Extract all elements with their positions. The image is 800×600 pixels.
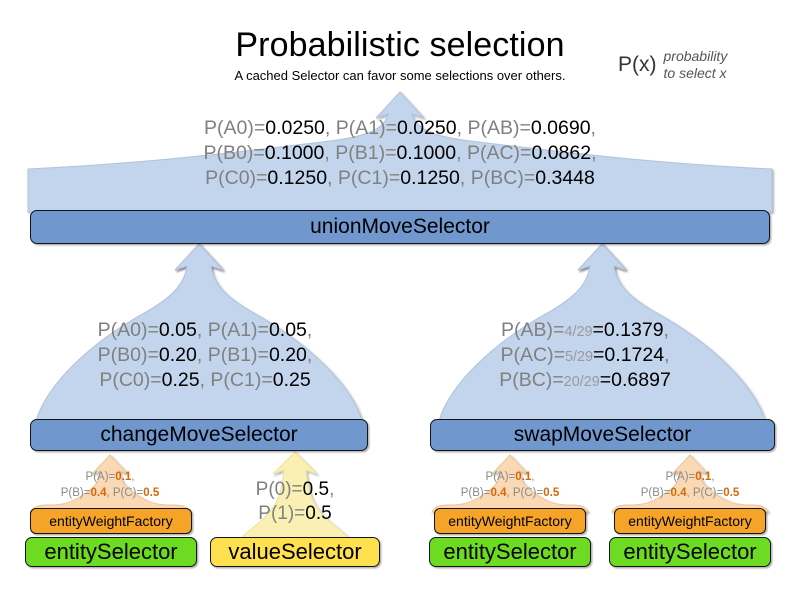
entity-selector-box-1[interactable]: entitySelector	[25, 537, 197, 567]
probability-fraction: 5/29	[565, 349, 593, 365]
change-probability-text: P(A0)=0.05, P(A1)=0.05,P(B0)=0.20, P(B1)…	[45, 318, 365, 393]
probability-label: P(C1)=	[338, 167, 400, 189]
probability-label: P(BC)=	[499, 369, 563, 391]
union-probability-text: P(A0)=0.0250, P(A1)=0.0250, P(AB)=0.0690…	[60, 116, 740, 191]
probability-value: 0.4	[670, 487, 686, 499]
probability-separator: ,	[197, 344, 208, 366]
probability-label: P(B)=	[461, 487, 491, 499]
probability-separator: ,	[325, 117, 336, 139]
probability-label: P(C)=	[693, 487, 723, 499]
probability-value: 0.5	[543, 487, 559, 499]
probability-value: 0.1000	[396, 142, 456, 164]
probability-line: P(A)=0.1,	[25, 470, 195, 486]
entity-weight-text-3: P(A)=0.1,P(B)=0.4, P(C)=0.5	[605, 470, 775, 501]
probability-label: P(A)=	[486, 471, 516, 483]
probability-value: 0.4	[490, 487, 506, 499]
probability-value: 0.1	[515, 471, 531, 483]
legend-line-2: to select x	[664, 65, 727, 81]
entity-weight-factory-box-1[interactable]: entityWeightFactory	[30, 508, 192, 534]
probability-label: P(AB)=	[467, 117, 530, 139]
probability-separator: ,	[307, 344, 312, 366]
probability-separator: ,	[664, 344, 669, 366]
probability-label: P(C1)=	[210, 369, 272, 391]
entity-weight-factory-box-3[interactable]: entityWeightFactory	[614, 508, 766, 534]
probability-separator: ,	[200, 369, 211, 391]
probability-label: P(A)=	[86, 471, 116, 483]
probability-label: P(B0)=	[98, 344, 159, 366]
entity-selector-box-3[interactable]: entitySelector	[609, 537, 771, 567]
probability-separator: ,	[591, 142, 596, 164]
legend: P(x) probability to select x	[618, 48, 793, 82]
probability-separator: ,	[711, 471, 714, 483]
probability-line: P(B0)=0.1000, P(B1)=0.1000, P(AC)=0.0862…	[60, 141, 740, 166]
probability-value: 0.3448	[535, 167, 595, 189]
probability-label: P(BC)=	[471, 167, 535, 189]
probability-label: P(A0)=	[98, 319, 159, 341]
entity-weight-text-1: P(A)=0.1,P(B)=0.4, P(C)=0.5	[25, 470, 195, 501]
probability-label: P(A1)=	[336, 117, 397, 139]
probability-separator: ,	[131, 471, 134, 483]
probability-label: P(C)=	[513, 487, 543, 499]
probability-value: 0.0250	[397, 117, 457, 139]
probability-label: P(B1)=	[208, 344, 269, 366]
probability-line: P(A)=0.1,	[605, 470, 775, 486]
probability-line: P(C0)=0.1250, P(C1)=0.1250, P(BC)=0.3448	[60, 166, 740, 191]
probability-line: P(0)=0.5,	[215, 478, 375, 502]
probability-value: 0.0250	[265, 117, 325, 139]
legend-line-1: probability	[664, 48, 728, 64]
probability-value: 0.25	[162, 369, 200, 391]
probability-label: P(1)=	[258, 503, 305, 524]
probability-label: P(A0)=	[204, 117, 265, 139]
entity-selector-box-2[interactable]: entitySelector	[429, 537, 591, 567]
probability-separator: ,	[456, 142, 467, 164]
probability-line: P(A0)=0.05, P(A1)=0.05,	[45, 318, 365, 343]
probability-label: P(B)=	[641, 487, 671, 499]
probability-separator: ,	[197, 319, 208, 341]
probability-value: =0.1724	[593, 344, 664, 366]
probability-label: P(B0)=	[203, 142, 264, 164]
probability-separator: ,	[457, 117, 468, 139]
change-move-selector-box[interactable]: changeMoveSelector	[30, 419, 368, 451]
probability-label: P(C0)=	[99, 369, 161, 391]
probability-line: P(B)=0.4, P(C)=0.5	[425, 486, 595, 502]
probability-label: P(A1)=	[208, 319, 269, 341]
probability-line: P(A0)=0.0250, P(A1)=0.0250, P(AB)=0.0690…	[60, 116, 740, 141]
probability-value: 0.1	[695, 471, 711, 483]
probability-value: 0.5	[305, 503, 331, 524]
swap-probability-text: P(AB)=4/29=0.1379,P(AC)=5/29=0.1724,P(BC…	[440, 318, 730, 393]
probability-line: P(B)=0.4, P(C)=0.5	[25, 486, 195, 502]
probability-value: 0.1	[115, 471, 131, 483]
probability-separator: ,	[324, 142, 335, 164]
union-move-selector-box[interactable]: unionMoveSelector	[30, 210, 770, 244]
probability-label: P(B1)=	[335, 142, 396, 164]
probability-value: 0.05	[159, 319, 197, 341]
probability-label: P(AC)=	[500, 344, 564, 366]
probability-line: P(B)=0.4, P(C)=0.5	[605, 486, 775, 502]
probability-value: 0.0862	[531, 142, 591, 164]
probability-line: P(C0)=0.25, P(C1)=0.25	[45, 368, 365, 393]
probability-value: =0.1379	[593, 319, 664, 341]
probability-label: P(A)=	[666, 471, 696, 483]
probability-value: 0.0690	[531, 117, 591, 139]
probability-line: P(BC)=20/29=0.6897	[440, 368, 730, 393]
probability-value: 0.25	[273, 369, 311, 391]
probability-value: 0.05	[269, 319, 307, 341]
probability-fraction: 4/29	[564, 324, 592, 340]
legend-symbol: P(x)	[618, 53, 657, 77]
diagram-canvas: Probabilistic selection A cached Selecto…	[0, 0, 800, 600]
probability-label: P(C)=	[113, 487, 143, 499]
probability-label: P(0)=	[256, 479, 303, 500]
probability-separator: ,	[327, 167, 338, 189]
probability-label: P(AB)=	[501, 319, 564, 341]
value-probability-text: P(0)=0.5,P(1)=0.5	[215, 478, 375, 527]
probability-line: P(1)=0.5	[215, 502, 375, 526]
probability-separator: ,	[531, 471, 534, 483]
entity-weight-factory-box-2[interactable]: entityWeightFactory	[434, 508, 586, 534]
probability-value: 0.1000	[265, 142, 325, 164]
probability-separator: ,	[307, 319, 312, 341]
value-selector-box[interactable]: valueSelector	[210, 537, 380, 567]
probability-line: P(AC)=5/29=0.1724,	[440, 343, 730, 368]
probability-value: 0.5	[723, 487, 739, 499]
entity-weight-text-2: P(A)=0.1,P(B)=0.4, P(C)=0.5	[425, 470, 595, 501]
probability-value: 0.20	[269, 344, 307, 366]
probability-line: P(A)=0.1,	[425, 470, 595, 486]
probability-value: 0.4	[90, 487, 106, 499]
probability-value: =0.6897	[600, 369, 671, 391]
probability-label: P(B)=	[61, 487, 91, 499]
probability-value: 0.1250	[400, 167, 460, 189]
probability-value: 0.1250	[267, 167, 327, 189]
probability-separator: ,	[460, 167, 471, 189]
probability-line: P(B0)=0.20, P(B1)=0.20,	[45, 343, 365, 368]
legend-description: probability to select x	[664, 48, 728, 82]
probability-separator: ,	[664, 319, 669, 341]
probability-label: P(AC)=	[467, 142, 531, 164]
swap-move-selector-box[interactable]: swapMoveSelector	[430, 419, 775, 451]
probability-separator: ,	[591, 117, 596, 139]
probability-separator: ,	[329, 479, 334, 500]
probability-value: 0.5	[303, 479, 329, 500]
probability-label: P(C0)=	[205, 167, 267, 189]
probability-line: P(AB)=4/29=0.1379,	[440, 318, 730, 343]
probability-value: 0.20	[159, 344, 197, 366]
probability-fraction: 20/29	[564, 374, 600, 390]
probability-value: 0.5	[143, 487, 159, 499]
